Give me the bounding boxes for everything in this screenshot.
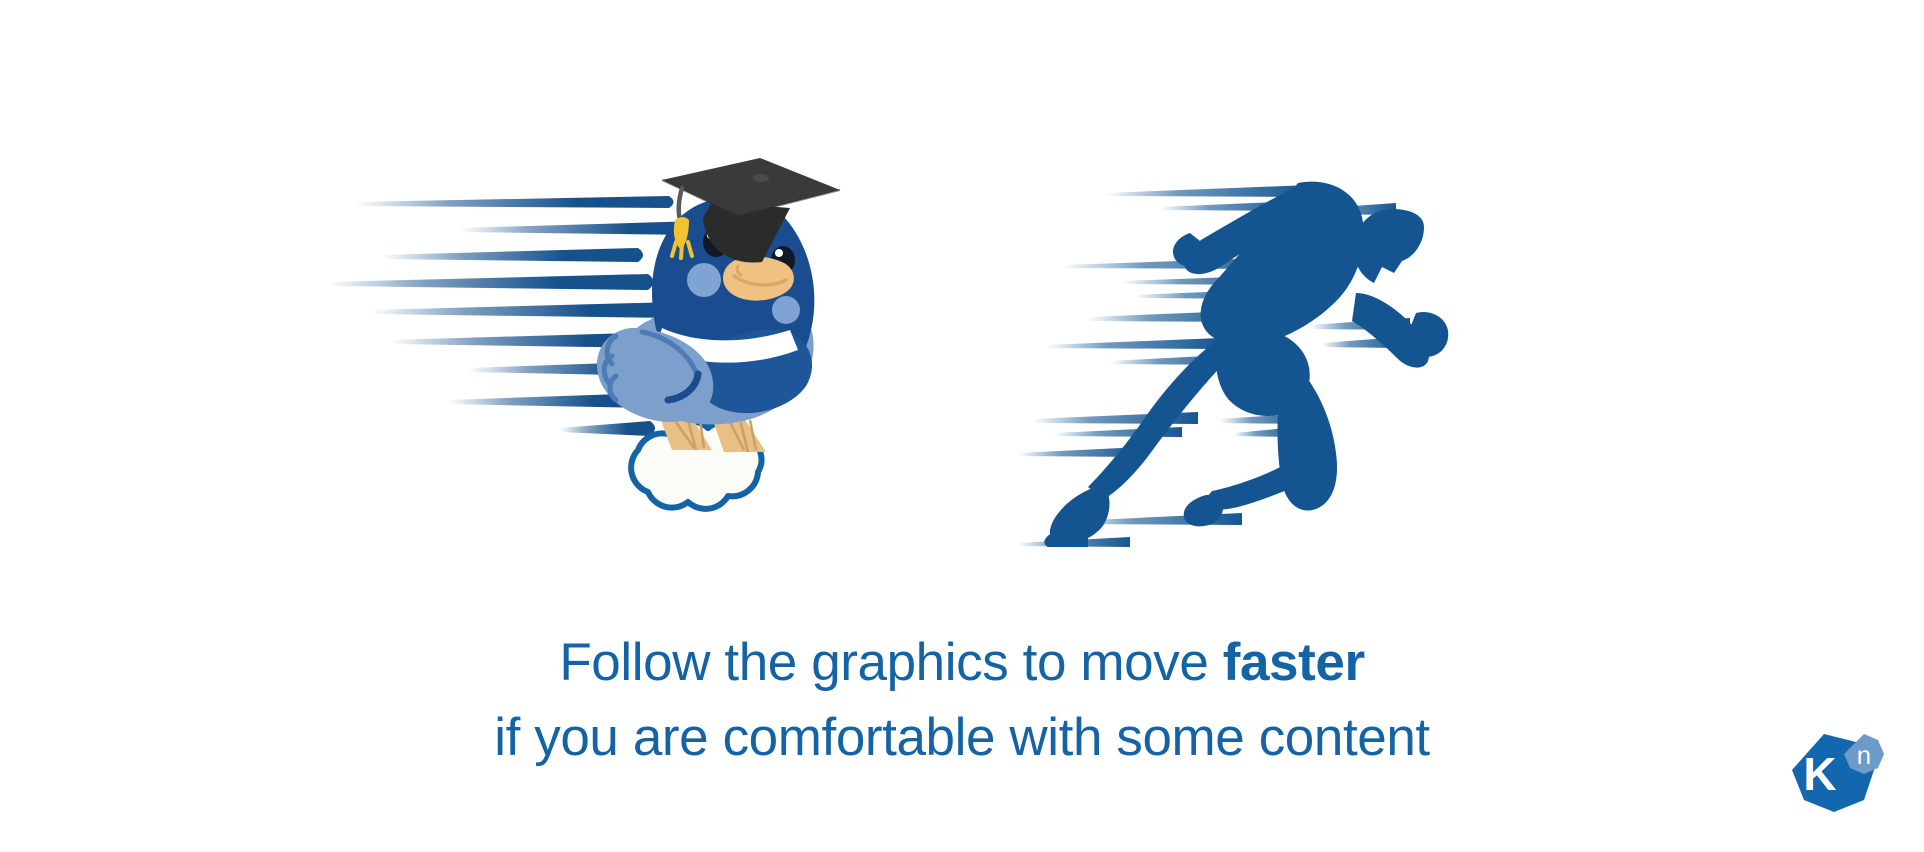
slide-caption: Follow the graphics to move faster if yo… xyxy=(0,625,1924,775)
runner-illustration xyxy=(1010,165,1470,555)
sprinting-runner-graphic xyxy=(1010,165,1470,555)
speedy-graduate-duck-graphic xyxy=(320,150,1020,550)
logo-letter-k: K xyxy=(1803,748,1836,800)
caption-emphasis-faster: faster xyxy=(1223,633,1365,692)
kn-logo[interactable]: K n xyxy=(1784,728,1888,824)
kn-logo-mark: K n xyxy=(1784,728,1888,824)
caption-line-2: if you are comfortable with some content xyxy=(0,700,1924,775)
slide-canvas: Follow the graphics to move faster if yo… xyxy=(0,0,1924,852)
logo-letter-n: n xyxy=(1857,740,1871,770)
runner-silhouette xyxy=(1044,182,1448,547)
graphics-band xyxy=(0,0,1924,580)
caption-line-1: Follow the graphics to move faster xyxy=(0,625,1924,700)
caption-line-1-prefix: Follow the graphics to move xyxy=(559,633,1222,692)
duck-illustration xyxy=(320,150,1020,550)
